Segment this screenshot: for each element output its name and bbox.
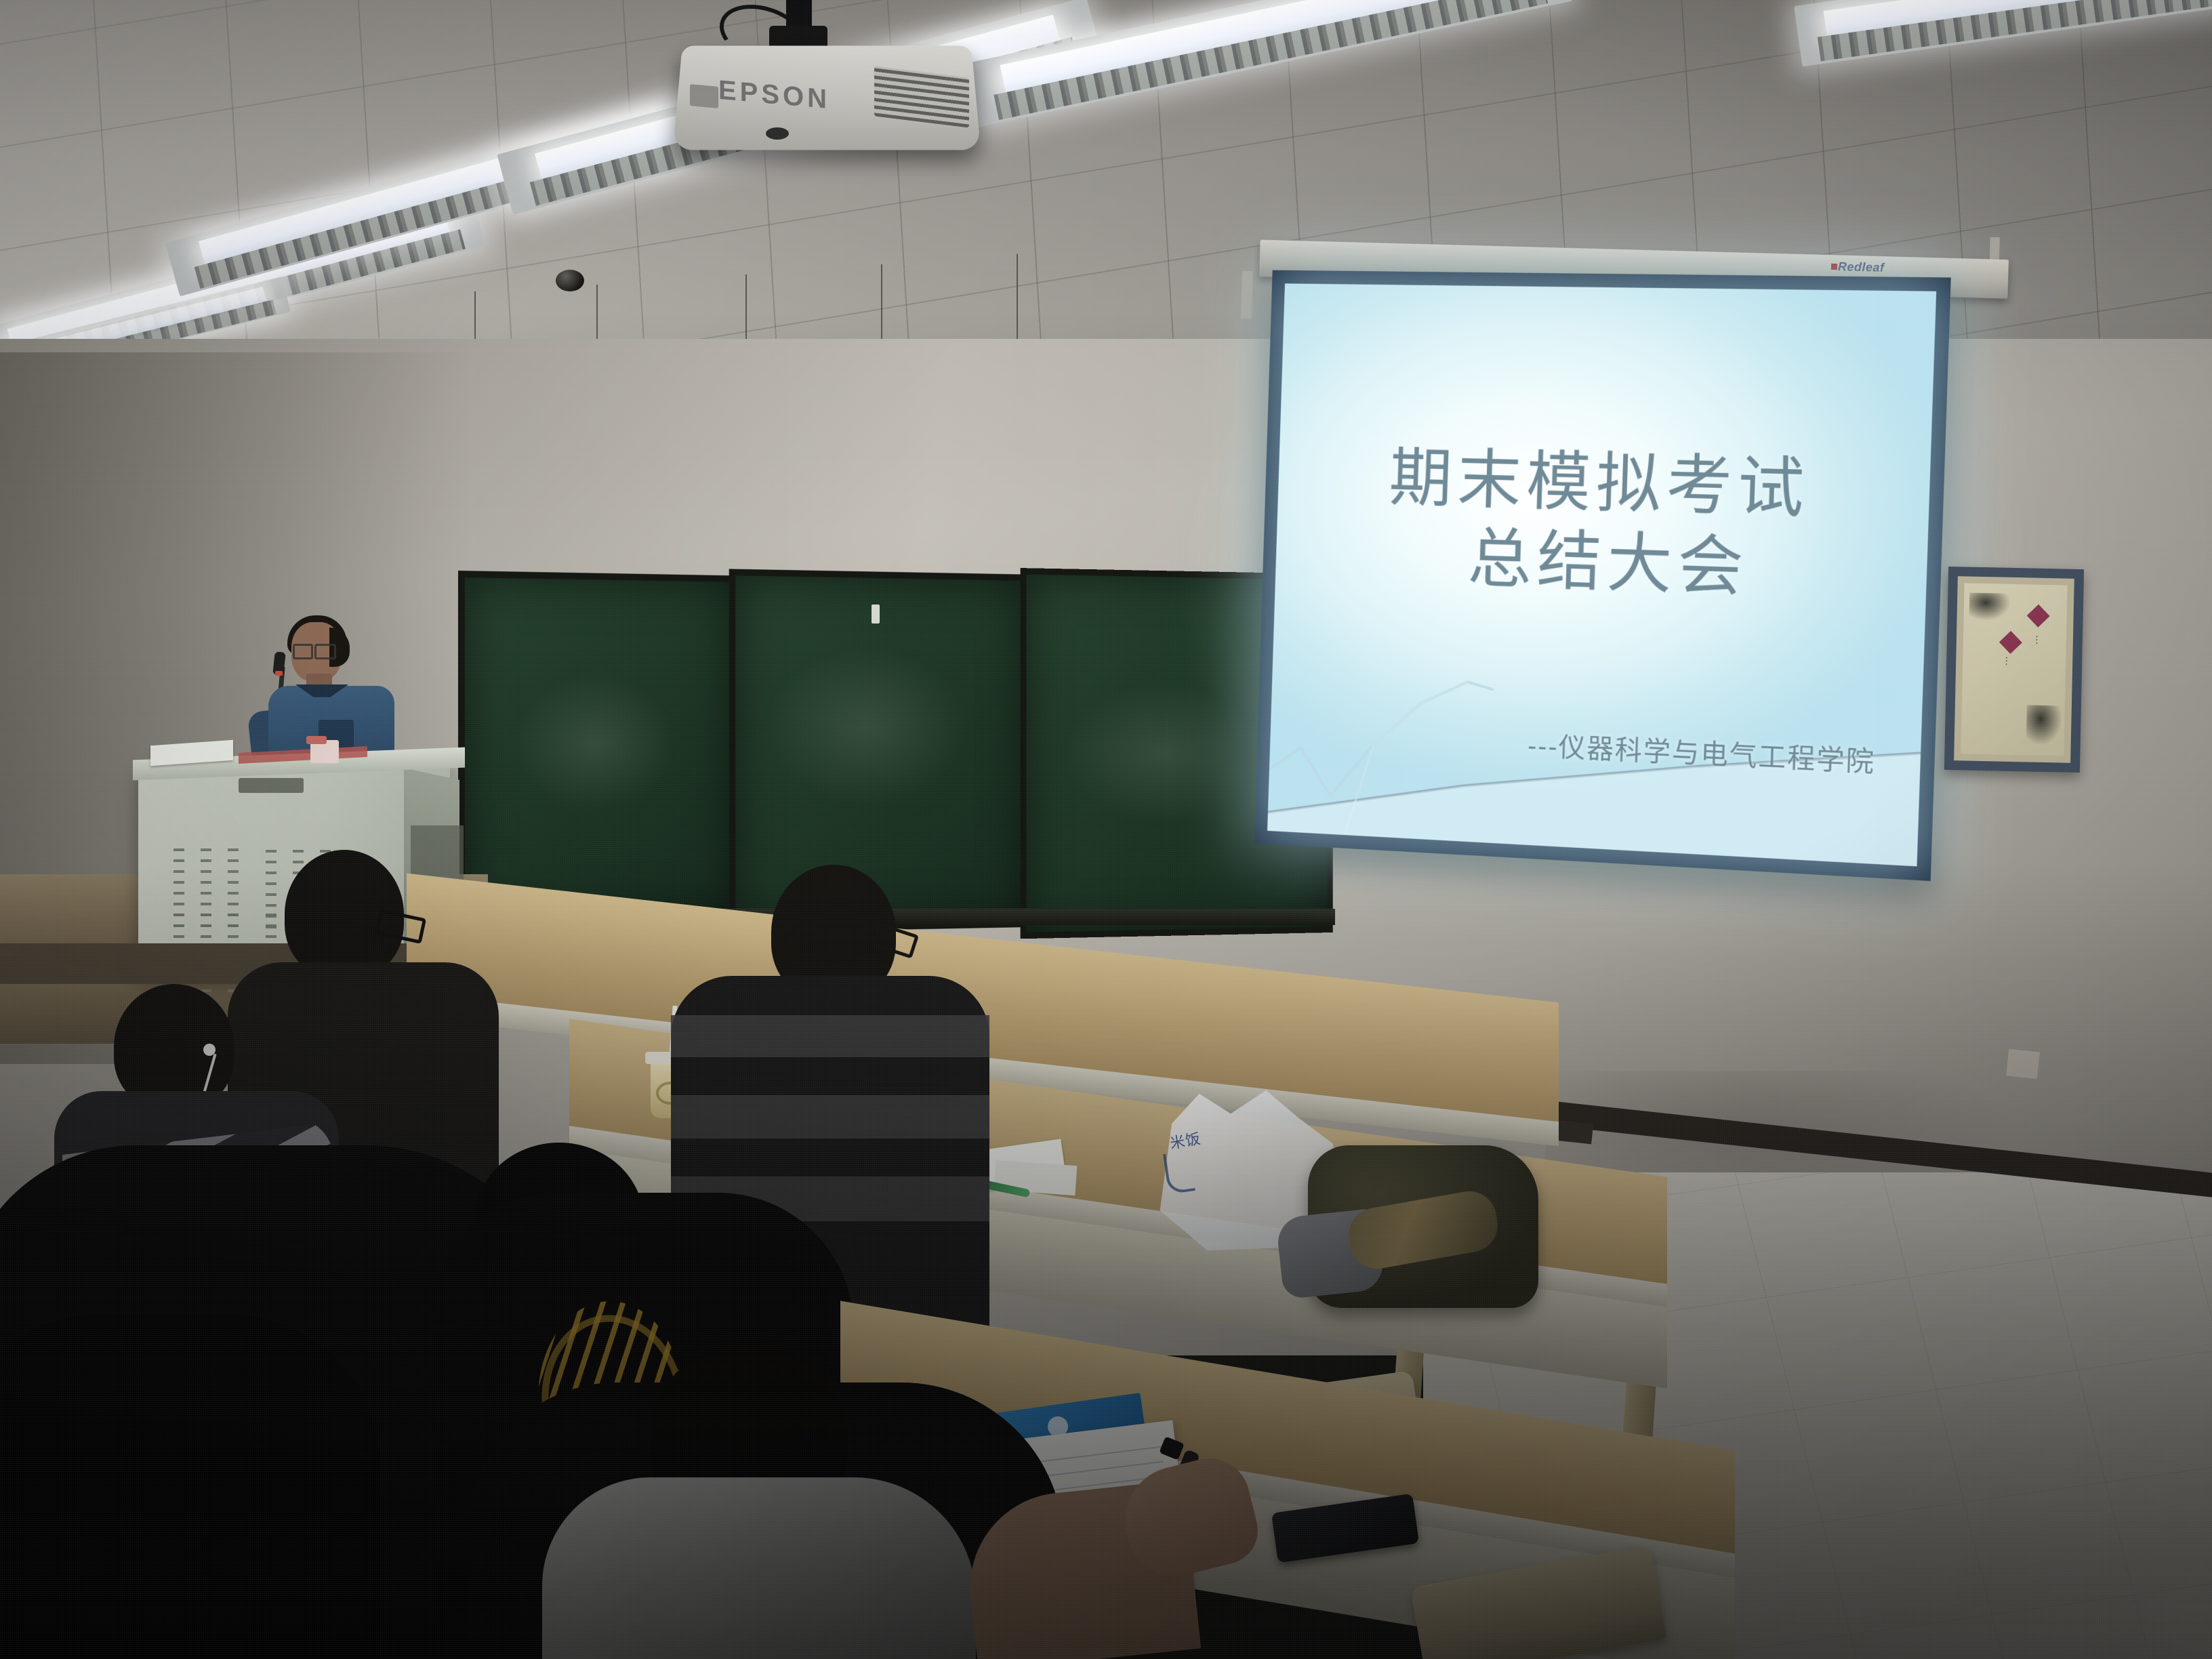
valance-brand-label: Redleaf <box>1838 260 1885 275</box>
blackboard <box>458 560 1385 939</box>
classroom-photo: EPSON Redleaf <box>0 0 2212 1659</box>
projection-screen: 期末模拟考试 总结大会 ---仪器科学与电气工程学院 <box>1267 283 1936 866</box>
presenter-glasses-icon <box>314 644 336 659</box>
projector-lens <box>766 127 789 140</box>
sweater-stripe <box>671 1015 989 1057</box>
slide-title-line1: 期末模拟考试 <box>1388 442 1811 526</box>
microphone-indicator-light <box>275 671 283 676</box>
calligraphy-artwork: … … <box>1961 583 2067 756</box>
presenter-glasses-icon <box>293 644 313 659</box>
chalk-piece <box>872 605 880 623</box>
sweater-stripe <box>671 1095 989 1139</box>
student-grey-shirt <box>542 1477 976 1659</box>
valance-logo-mark <box>1831 264 1837 270</box>
screen-bracket <box>1241 271 1253 319</box>
slide-title: 期末模拟考试 总结大会 <box>1275 436 1931 614</box>
blackboard-panel <box>729 569 1031 933</box>
wall-outlet <box>2005 1048 2041 1081</box>
lectern-paper-cup-rim <box>306 736 327 744</box>
projector-badge <box>690 84 718 108</box>
lectern-cable-slot <box>239 778 304 793</box>
blackboard-panel <box>458 571 741 927</box>
student-silhouette <box>0 1315 380 1659</box>
ceiling-sensor-dome-icon <box>556 270 584 291</box>
